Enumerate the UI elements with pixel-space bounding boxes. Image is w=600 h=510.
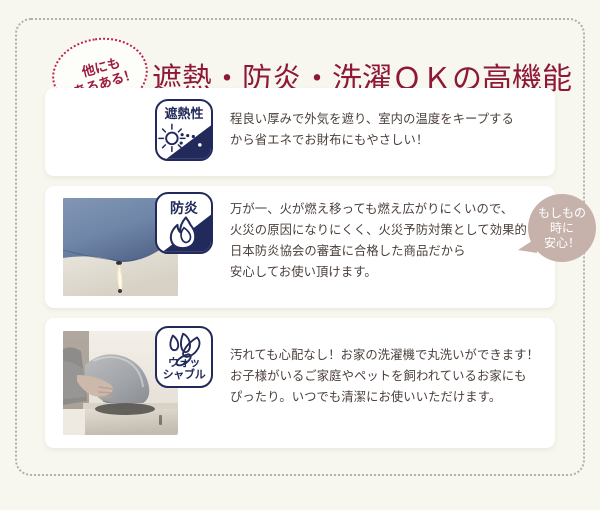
feature-card-flame-retardant: 防炎 万が一、火が燃え移っても燃え広がりにくいので、 火災の原因になりにくく、火… [45,186,555,308]
callout-line2: 時に [550,221,574,236]
badge-label-flame-retardant: 防炎 [157,201,211,216]
feature-description-heat-shield: 程良い厚みで外気を遮り、室内の温度をキープする から省エネでお財布にもやさしい！ [230,109,514,151]
callout-line1: もしもの [538,206,586,221]
badge-flame-retardant: 防炎 [155,192,213,254]
badge-washable: ウォッ シャブル [155,326,213,388]
feature-card-heat-shield: 遮熱性 程良い厚みで外気を遮り、室内の温度をキープする から省エネでお財布にもや… [45,88,555,176]
badge-label-heat-shield: 遮熱性 [157,107,211,121]
badge-label-washable-line2: シャブル [157,370,211,382]
feature-description-washable: 汚れても心配なし！お家の洗濯機で丸洗いができます！ お子様がいるご家庭やペットを… [230,345,539,408]
badge-heat-shield: 遮熱性 [155,99,213,161]
header: 遮熱・防炎・洗濯ＯＫの高機能 他にも あるある！ [0,22,600,90]
callout-line3: 安心！ [544,236,580,251]
badge-label-washable-line1: ウォッ [157,358,211,370]
badge-label-washable: ウォッ シャブル [157,358,211,381]
reassurance-callout: もしもの 時に 安心！ [528,194,596,262]
feature-description-flame-retardant: 万が一、火が燃え移っても燃え広がりにくいので、 火災の原因になりにくく、火災予防… [230,199,539,283]
feature-card-washable: ウォッ シャブル 汚れても心配なし！お家の洗濯機で丸洗いができます！ お子様がい… [45,318,555,448]
